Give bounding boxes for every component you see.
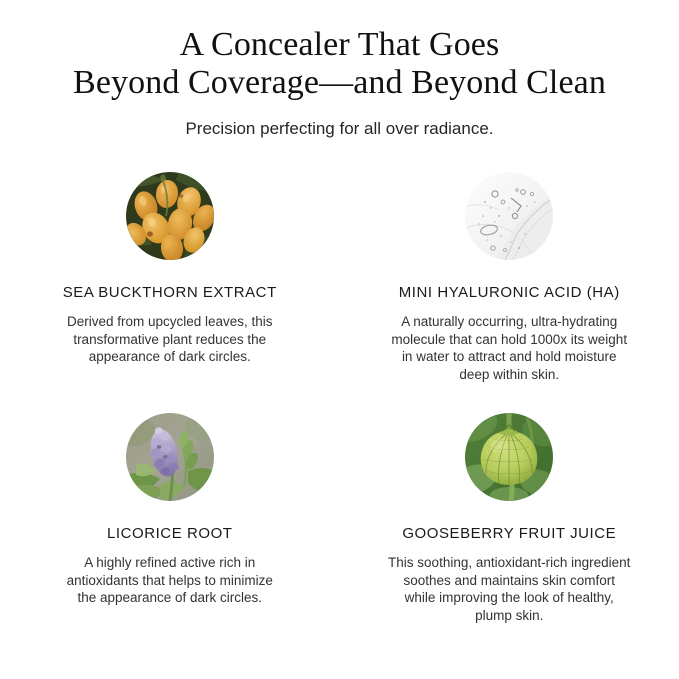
page-title: A Concealer That Goes Beyond Coverage—an… [0, 26, 679, 102]
ingredient-benefits-page: A Concealer That Goes Beyond Coverage—an… [0, 0, 679, 679]
ingredient-card-licorice-root: LICORICE ROOT A highly refined active ri… [0, 413, 340, 624]
description-line: soothes and maintains skin comfort [388, 572, 630, 590]
page-header: A Concealer That Goes Beyond Coverage—an… [0, 0, 679, 140]
description-line: This soothing, antioxidant-rich ingredie… [388, 554, 630, 572]
licorice-root-flower-photo [126, 413, 214, 501]
ingredient-description: A highly refined active rich in antioxid… [67, 554, 273, 607]
ingredient-description: A naturally occurring, ultra-hydrating m… [391, 313, 627, 383]
description-line: A highly refined active rich in [67, 554, 273, 572]
description-line: deep within skin. [391, 366, 627, 384]
description-line: A naturally occurring, ultra-hydrating [391, 313, 627, 331]
ingredient-card-sea-buckthorn-extract: SEA BUCKTHORN EXTRACT Derived from upcyc… [0, 172, 340, 383]
ingredient-grid: SEA BUCKTHORN EXTRACT Derived from upcyc… [0, 172, 679, 624]
sea-buckthorn-berries-photo [126, 172, 214, 260]
ingredient-card-mini-hyaluronic-acid: MINI HYALURONIC ACID (HA) A naturally oc… [340, 172, 679, 383]
ingredient-description: This soothing, antioxidant-rich ingredie… [388, 554, 630, 624]
page-title-line-1: A Concealer That Goes [0, 26, 679, 64]
ingredient-name: LICORICE ROOT [107, 525, 233, 543]
page-subtitle: Precision perfecting for all over radian… [0, 118, 679, 140]
page-title-line-2: Beyond Coverage—and Beyond Clean [0, 64, 679, 102]
description-line: the appearance of dark circles. [67, 589, 273, 607]
ingredient-name: GOOSEBERRY FRUIT JUICE [402, 525, 616, 543]
description-line: appearance of dark circles. [67, 348, 273, 366]
ingredient-card-gooseberry-fruit-juice: GOOSEBERRY FRUIT JUICE This soothing, an… [340, 413, 679, 624]
ingredient-description: Derived from upcycled leaves, this trans… [67, 313, 273, 366]
gooseberry-fruit-photo [465, 413, 553, 501]
description-line: in water to attract and hold moisture [391, 348, 627, 366]
description-line: transformative plant reduces the [67, 331, 273, 349]
description-line: molecule that can hold 1000x its weight [391, 331, 627, 349]
description-line: plump skin. [388, 607, 630, 625]
description-line: antioxidants that helps to minimize [67, 572, 273, 590]
hyaluronic-acid-gel-texture-photo [465, 172, 553, 260]
description-line: while improving the look of healthy, [388, 589, 630, 607]
description-line: Derived from upcycled leaves, this [67, 313, 273, 331]
ingredient-name: MINI HYALURONIC ACID (HA) [399, 284, 620, 302]
ingredient-name: SEA BUCKTHORN EXTRACT [63, 284, 277, 302]
